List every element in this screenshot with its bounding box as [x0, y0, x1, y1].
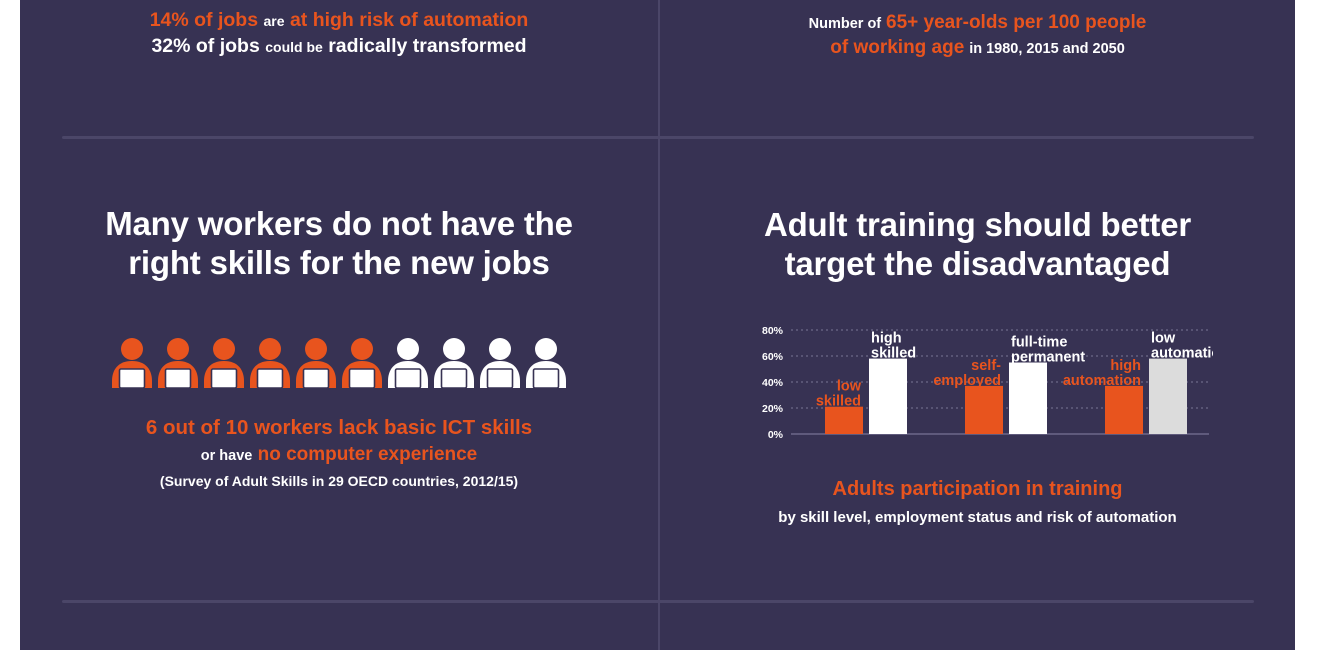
right-headline-line-1: Adult training should better [660, 206, 1295, 245]
chart-bar-label: high [1110, 358, 1141, 374]
chart-bar-label: permanent [1011, 350, 1085, 366]
chart-container: 0%20%40%60%80%lowskilledhighskilledself-… [660, 312, 1295, 452]
chart-bar [1105, 386, 1143, 434]
left-headline: Many workers do not have the right skill… [20, 205, 658, 283]
chart-bar-label: full-time [1011, 335, 1067, 351]
right-kicker-prefix: Number of [809, 16, 882, 32]
y-axis-tick-label: 40% [761, 377, 783, 389]
chart-bar [965, 386, 1003, 434]
y-axis-tick-label: 80% [761, 325, 783, 337]
chart-bar-label: automation [1151, 346, 1213, 362]
person-icon [524, 336, 568, 388]
chart-bar-label: low [836, 379, 861, 395]
left-kicker-tail-1: at high risk of automation [290, 9, 528, 31]
chart-bar-label: high [871, 331, 902, 347]
person-icon-highlighted [156, 336, 200, 388]
training-participation-bar-chart: 0%20%40%60%80%lowskilledhighskilledself-… [743, 312, 1213, 452]
y-axis-tick-label: 60% [761, 351, 783, 363]
pictogram-people-row [20, 336, 658, 388]
left-caption-line-1: 6 out of 10 workers lack basic ICT skill… [20, 414, 658, 441]
left-headline-line-1: Many workers do not have the [20, 205, 658, 244]
left-caption-line-2: or have no computer experience [20, 442, 658, 467]
person-icon-highlighted [202, 336, 246, 388]
left-caption-line-2-prefix: or have [201, 448, 253, 464]
chart-bar-label: automation [1062, 373, 1140, 389]
chart-bar [825, 407, 863, 434]
left-kicker-stat-1: 14% of jobs [150, 9, 258, 31]
left-caption: 6 out of 10 workers lack basic ICT skill… [20, 414, 658, 491]
right-kicker-main-2: of working age [830, 37, 964, 58]
chart-bar [1149, 359, 1187, 434]
chart-bar [1009, 363, 1047, 435]
left-caption-line-2-main: no computer experience [258, 444, 478, 465]
person-icon [386, 336, 430, 388]
person-icon-highlighted [340, 336, 384, 388]
left-column: 14% of jobs are at high risk of automati… [20, 0, 658, 650]
person-icon [432, 336, 476, 388]
right-kicker-main-1: 65+ year-olds per 100 people [886, 12, 1146, 33]
chart-bar-label: low [1151, 331, 1176, 347]
chart-bar-label: employed [933, 373, 1001, 389]
right-kicker-tail: in 1980, 2015 and 2050 [969, 41, 1125, 57]
left-kicker: 14% of jobs are at high risk of automati… [20, 8, 658, 59]
right-caption: Adults participation in training by skil… [660, 476, 1295, 528]
y-axis-tick-label: 0% [767, 429, 783, 441]
left-kicker-tail-2: radically transformed [328, 35, 526, 57]
person-icon [478, 336, 522, 388]
left-caption-source: (Survey of Adult Skills in 29 OECD count… [20, 472, 658, 491]
y-axis-tick-label: 20% [761, 403, 783, 415]
right-headline-line-2: target the disadvantaged [660, 245, 1295, 284]
bar-chart-svg: 0%20%40%60%80%lowskilledhighskilledself-… [743, 312, 1213, 452]
chart-bar-label: self- [971, 358, 1001, 374]
right-kicker-line-2: of working age in 1980, 2015 and 2050 [660, 35, 1295, 60]
person-icon-highlighted [294, 336, 338, 388]
infographic-root: 14% of jobs are at high risk of automati… [0, 0, 1320, 650]
chart-bar-label: skilled [815, 394, 860, 410]
right-kicker: Number of 65+ year-olds per 100 people o… [660, 10, 1295, 60]
left-kicker-mid-1: are [263, 13, 284, 29]
left-headline-line-2: right skills for the new jobs [20, 244, 658, 283]
chart-bar-label: skilled [871, 346, 916, 362]
right-kicker-line-1: Number of 65+ year-olds per 100 people [660, 10, 1295, 35]
chart-title: Adults participation in training [660, 476, 1295, 504]
left-kicker-line-2: 32% of jobs could be radically transform… [20, 34, 658, 60]
chart-subtitle: by skill level, employment status and ri… [660, 508, 1295, 529]
right-headline: Adult training should better target the … [660, 206, 1295, 284]
right-column: Number of 65+ year-olds per 100 people o… [660, 0, 1295, 650]
person-icon-highlighted [248, 336, 292, 388]
chart-bar [869, 359, 907, 434]
left-kicker-line-1: 14% of jobs are at high risk of automati… [20, 8, 658, 34]
person-icon-highlighted [110, 336, 154, 388]
left-kicker-stat-2: 32% of jobs [151, 35, 259, 57]
left-kicker-mid-2: could be [265, 39, 323, 55]
